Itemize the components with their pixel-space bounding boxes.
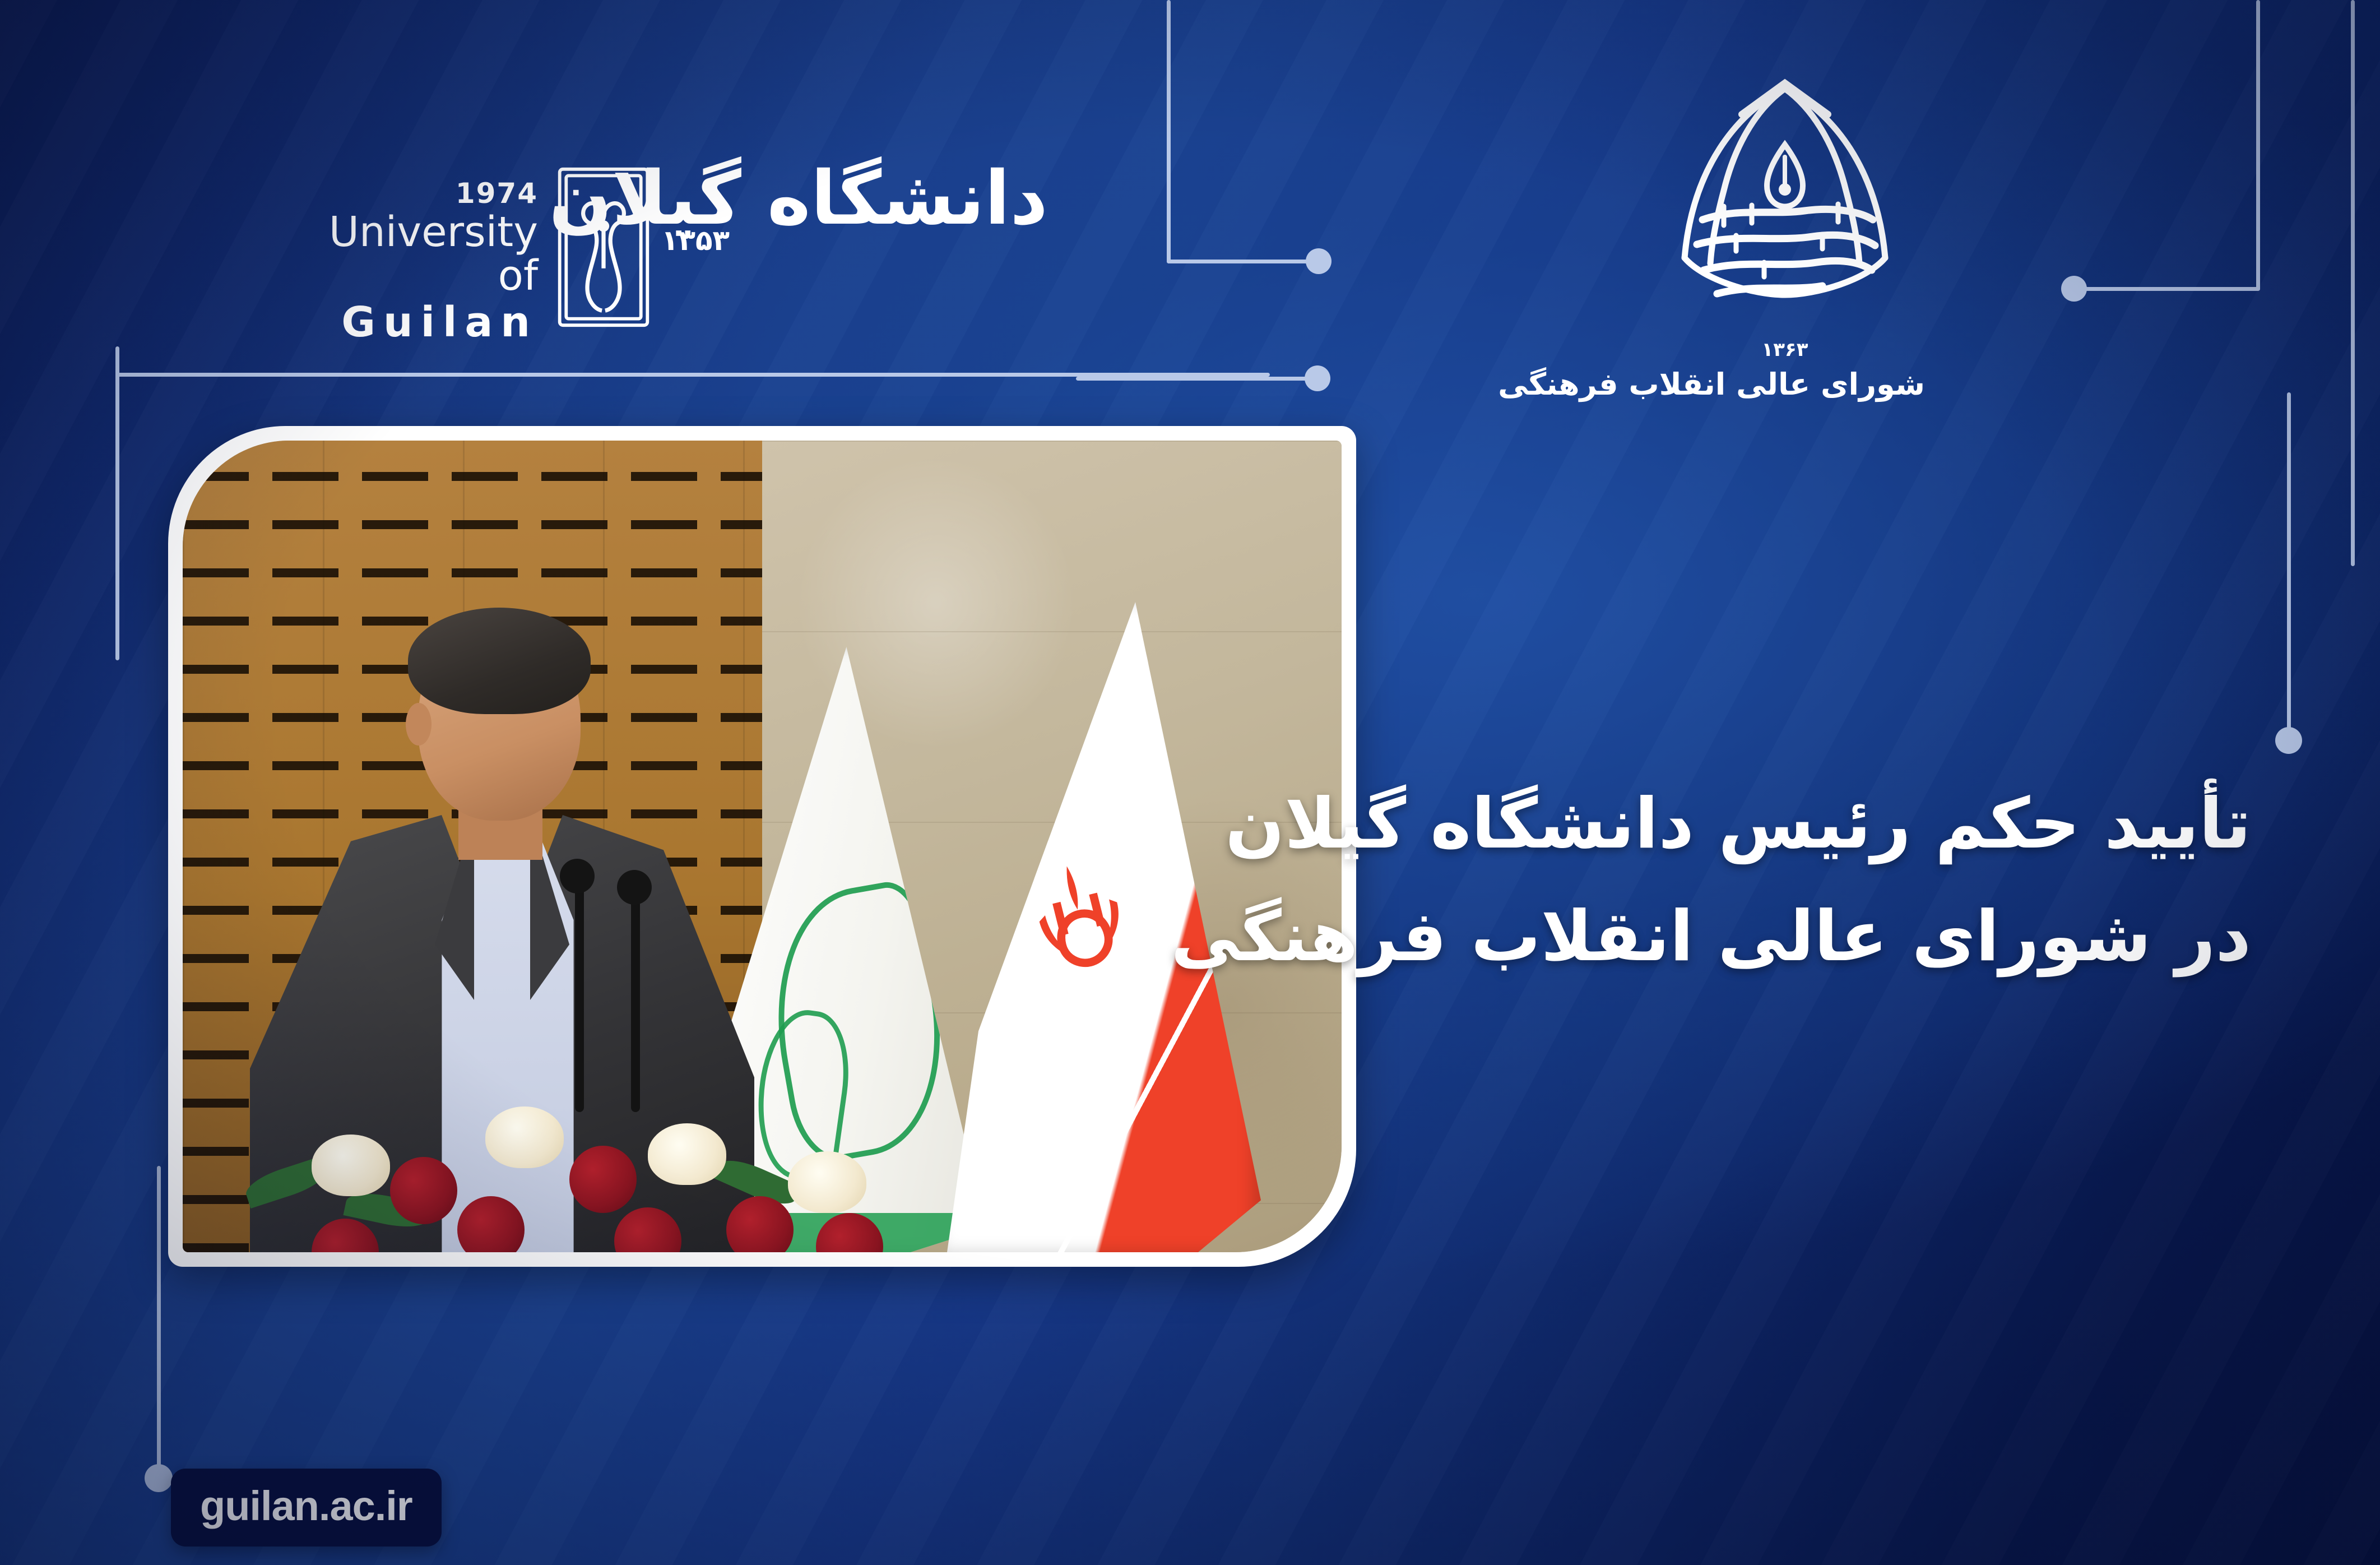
red-rose bbox=[816, 1213, 883, 1252]
accent-dot-bottom-left bbox=[145, 1464, 173, 1492]
corner-bracket-top-middle-vertical bbox=[1167, 0, 1171, 263]
white-lily bbox=[485, 1106, 564, 1168]
university-founding-year-latin: 1974 bbox=[297, 179, 538, 207]
news-photo bbox=[183, 441, 1342, 1252]
headline-line-2: در شورای عالی انقلاب فرهنگی bbox=[1231, 881, 2251, 993]
microphone-head-2 bbox=[617, 870, 652, 905]
red-rose bbox=[726, 1196, 794, 1252]
website-url-badge[interactable]: guilan.ac.ir bbox=[171, 1469, 442, 1547]
corner-bracket-top-middle-horizontal bbox=[1167, 260, 1318, 263]
speaker-hair bbox=[408, 608, 591, 714]
headline-line-1: تأیید حکم رئیس دانشگاه گیلان bbox=[1231, 768, 2251, 881]
news-photo-frame bbox=[168, 426, 1356, 1267]
university-name-line1: University of bbox=[297, 211, 538, 298]
red-rose bbox=[312, 1219, 379, 1252]
news-poster: 1974 University of Guilan ۱۳۵۳ دانشگاه گ… bbox=[0, 0, 2380, 1565]
corner-bracket-top-left-vertical bbox=[115, 346, 119, 660]
university-of-guilan-logo: 1974 University of Guilan ۱۳۵۳ دانشگاه گ… bbox=[297, 168, 1048, 331]
red-rose bbox=[569, 1146, 637, 1213]
speaker-ear bbox=[406, 703, 432, 746]
microphone-head-1 bbox=[560, 859, 595, 893]
university-name-persian: دانشگاه گیلان bbox=[667, 152, 1048, 245]
university-logo-latin-block: 1974 University of Guilan bbox=[297, 179, 538, 345]
red-rose bbox=[457, 1196, 525, 1252]
white-lily bbox=[312, 1135, 390, 1196]
corner-bracket-top-left-horizontal bbox=[115, 373, 1270, 377]
dome-calligraphy-icon bbox=[1670, 73, 1900, 342]
accent-stem-bottom-left bbox=[157, 1166, 161, 1469]
supreme-council-cultural-revolution-logo: ۱۳۶۳ شورای عالی انقلاب فرهنگی bbox=[1645, 73, 1925, 482]
flower-arrangement bbox=[222, 1028, 928, 1252]
headline: تأیید حکم رئیس دانشگاه گیلان در شورای عا… bbox=[1231, 768, 2251, 993]
red-rose bbox=[614, 1207, 681, 1252]
accent-dot-second bbox=[1305, 365, 1330, 391]
white-lily bbox=[788, 1151, 866, 1213]
council-name-persian: شورای عالی انقلاب فرهنگی bbox=[1645, 367, 1925, 402]
corner-bracket-top-right-vertical bbox=[2256, 0, 2260, 290]
accent-dot-right bbox=[2275, 727, 2302, 754]
accent-stem-right bbox=[2287, 392, 2291, 740]
red-rose bbox=[390, 1157, 457, 1224]
university-name-line2: Guilan bbox=[297, 301, 538, 345]
edge-line-right bbox=[2351, 0, 2355, 566]
accent-dot-top-middle bbox=[1306, 248, 1331, 274]
white-lily bbox=[648, 1123, 726, 1185]
accent-line-second bbox=[1076, 377, 1311, 381]
corner-bracket-top-right-horizontal bbox=[2073, 287, 2260, 291]
accent-dot-top-right bbox=[2061, 276, 2087, 302]
